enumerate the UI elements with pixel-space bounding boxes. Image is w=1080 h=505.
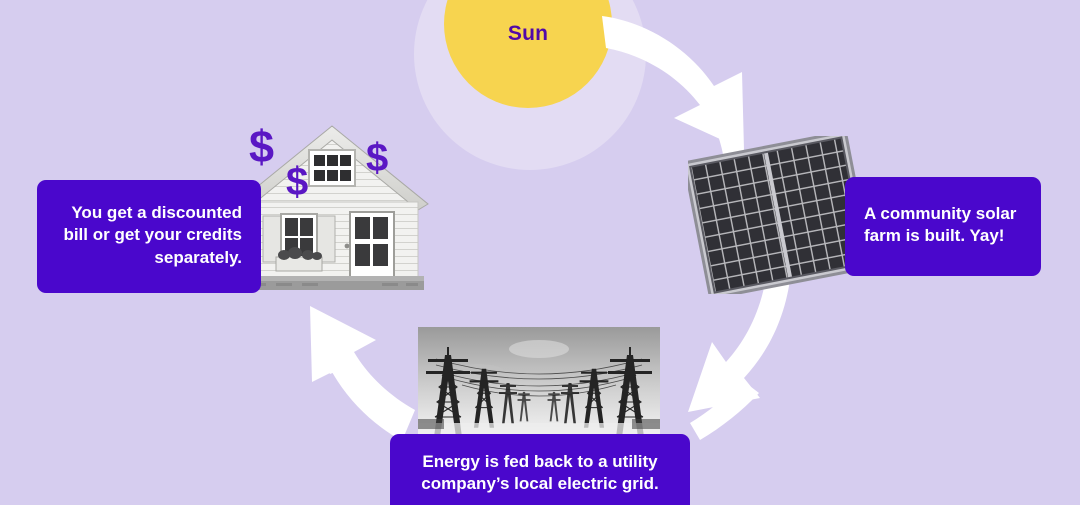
power-lines-icon: [418, 327, 660, 437]
dollar-sign-icon: $: [249, 124, 274, 169]
infographic-canvas: Sun: [0, 0, 1080, 505]
callout-discounted-bill: You get a discounted bill or get your cr…: [37, 180, 261, 293]
callout-solar-farm: A community solar farm is built. Yay!: [845, 177, 1041, 276]
solar-panel-icon: [688, 136, 868, 294]
arrow-panel-to-grid: [688, 278, 790, 440]
arrow-grid-to-house: [310, 306, 415, 441]
callout-utility-grid: Energy is fed back to a utility company’…: [390, 434, 690, 505]
dollar-sign-icon: $: [286, 162, 308, 202]
dollar-sign-icon: $: [366, 138, 388, 178]
